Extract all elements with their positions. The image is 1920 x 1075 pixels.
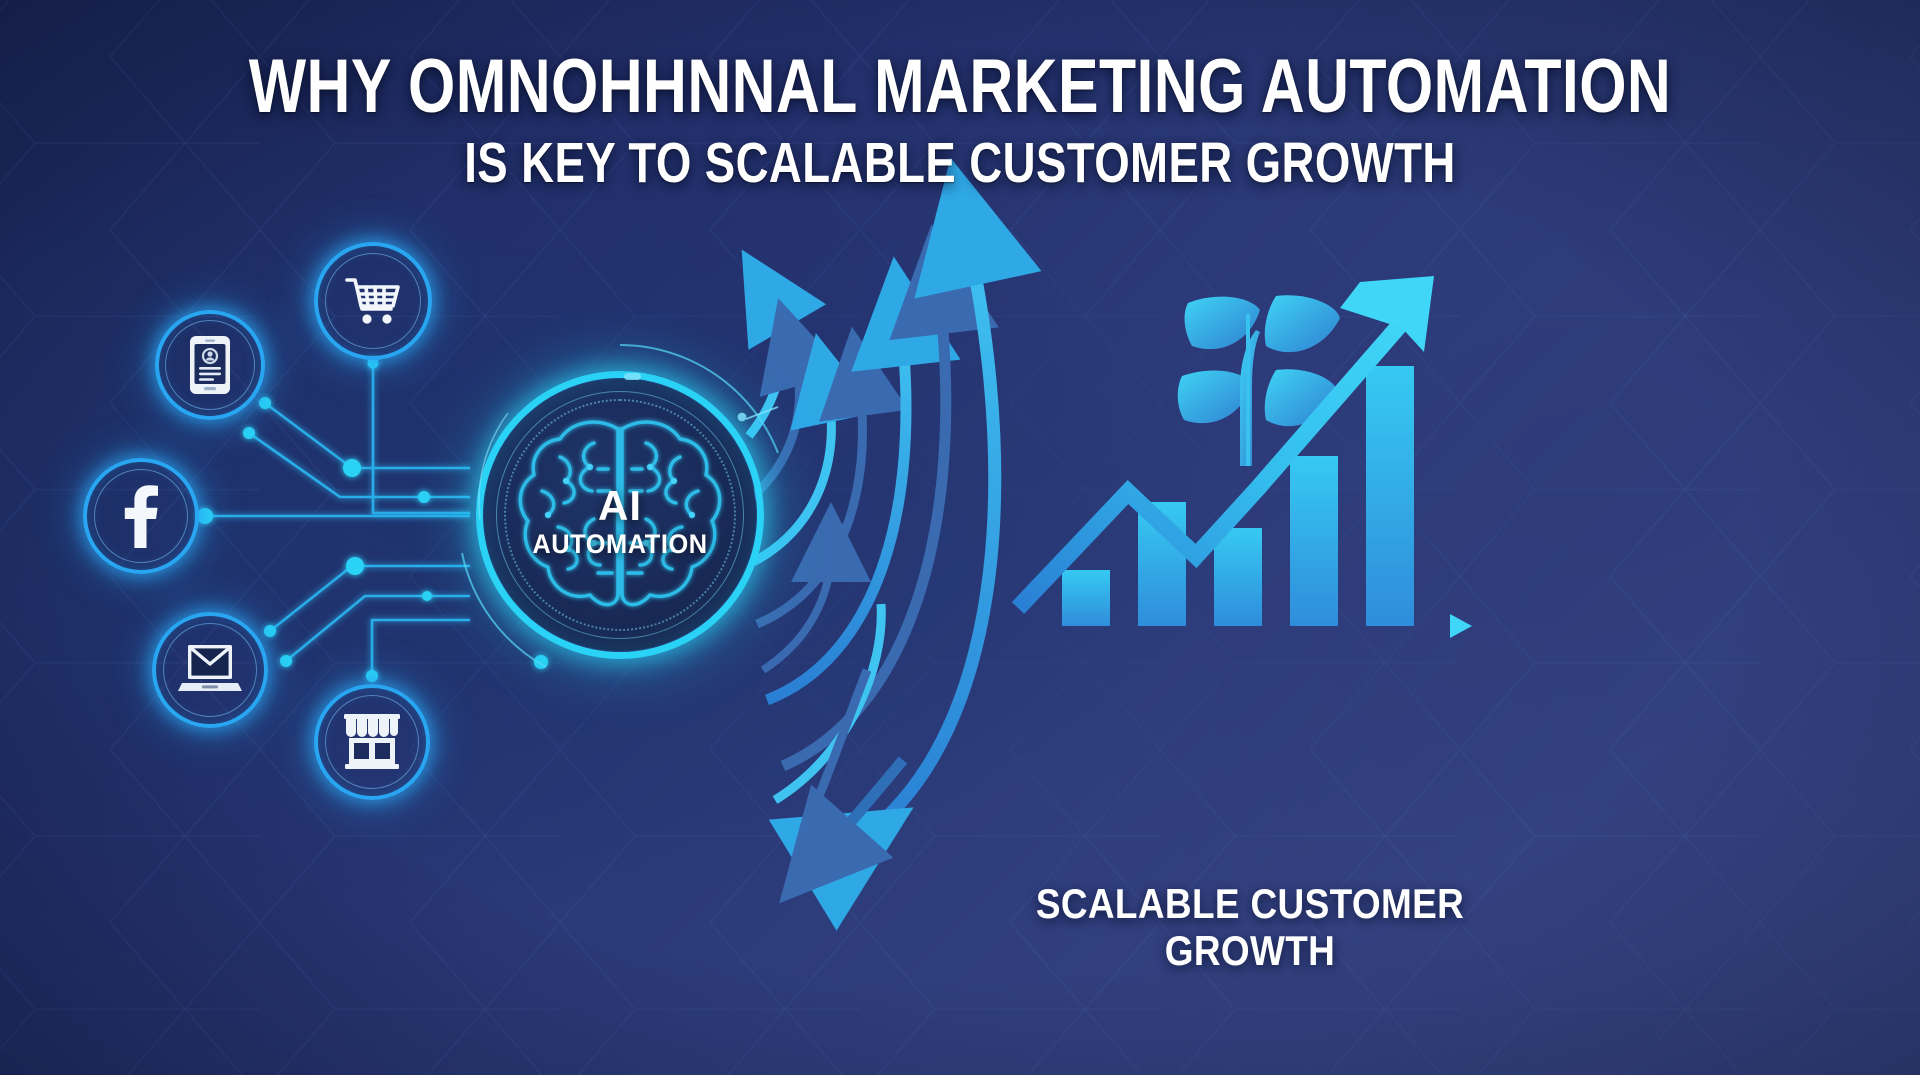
storefront-icon: [314, 684, 430, 800]
growth-chart-illustration: [1010, 270, 1490, 700]
growth-caption-line-1: SCALABLE CUSTOMER: [1030, 880, 1470, 927]
facebook-icon: [83, 458, 199, 574]
growth-caption: SCALABLE CUSTOMER GROWTH: [1030, 880, 1470, 974]
shopping-cart-icon: [314, 242, 432, 360]
hub-hud-decoration: [426, 321, 814, 709]
headline: WHY OMNOHHNNAL MARKETING AUTOMATION IS K…: [0, 48, 1920, 192]
channel-node-retail-store[interactable]: [314, 684, 430, 800]
headline-line-1: WHY OMNOHHNNAL MARKETING AUTOMATION: [192, 48, 1728, 126]
email-laptop-icon: [152, 612, 268, 728]
channel-node-social-facebook[interactable]: [83, 458, 199, 574]
channel-node-mobile[interactable]: [155, 310, 265, 420]
bar-3: [1214, 528, 1262, 626]
channel-node-email[interactable]: [152, 612, 268, 728]
bar-1: [1062, 570, 1110, 626]
ai-automation-hub[interactable]: AI AUTOMATION: [470, 365, 770, 665]
infographic-canvas: WHY OMNOHHNNAL MARKETING AUTOMATION IS K…: [0, 0, 1920, 1075]
growth-caption-line-2: GROWTH: [1030, 927, 1470, 974]
growth-plant-icon: [1178, 295, 1340, 466]
bar-5: [1366, 366, 1414, 626]
channel-node-ecommerce[interactable]: [314, 242, 432, 360]
headline-line-2: IS KEY TO SCALABLE CUSTOMER GROWTH: [192, 134, 1728, 192]
smartphone-icon: [155, 310, 265, 420]
bar-4: [1290, 456, 1338, 626]
